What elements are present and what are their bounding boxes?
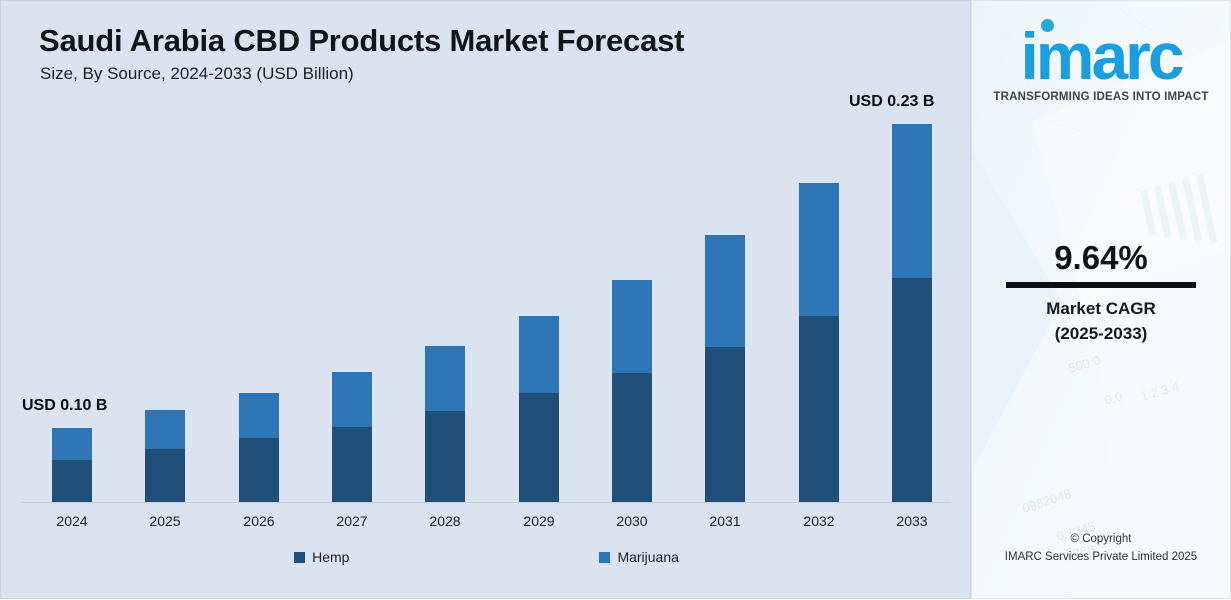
bar-segment-marijuana-2029 bbox=[519, 316, 559, 393]
bar-segment-marijuana-2030 bbox=[612, 280, 652, 373]
x-axis-label-2033: 2033 bbox=[877, 513, 947, 529]
plot-area: 2024202520262027202820292030203120322033… bbox=[1, 1, 972, 600]
x-axis-label-2029: 2029 bbox=[504, 513, 574, 529]
value-label-first: USD 0.10 B bbox=[22, 397, 107, 415]
legend-item-marijuana[interactable]: Marijuana bbox=[599, 549, 678, 565]
bar-segment-hemp-2033 bbox=[892, 278, 932, 502]
cagr-label: Market CAGR (2025-2033) bbox=[972, 297, 1230, 346]
bar-2027[interactable] bbox=[332, 372, 372, 502]
x-axis-label-2026: 2026 bbox=[224, 513, 294, 529]
bar-2025[interactable] bbox=[145, 410, 185, 502]
bar-segment-hemp-2032 bbox=[799, 316, 839, 502]
bar-segment-marijuana-2033 bbox=[892, 124, 932, 278]
bar-segment-hemp-2031 bbox=[705, 347, 745, 502]
legend-item-hemp[interactable]: Hemp bbox=[294, 549, 349, 565]
bar-segment-marijuana-2025 bbox=[145, 410, 185, 449]
cagr-value: 9.64% bbox=[972, 239, 1230, 277]
bar-2030[interactable] bbox=[612, 280, 652, 502]
legend-swatch-marijuana bbox=[599, 552, 610, 563]
x-axis-label-2025: 2025 bbox=[130, 513, 200, 529]
chart-infographic: Saudi Arabia CBD Products Market Forecas… bbox=[0, 0, 1231, 599]
chart-legend: Hemp Marijuana bbox=[1, 549, 972, 565]
legend-label-hemp: Hemp bbox=[312, 549, 349, 565]
bar-segment-marijuana-2024 bbox=[52, 428, 92, 460]
copyright-line2: IMARC Services Private Limited 2025 bbox=[972, 549, 1230, 567]
copyright-line1: © Copyright bbox=[972, 531, 1230, 549]
bar-2033[interactable] bbox=[892, 124, 932, 502]
bar-2028[interactable] bbox=[425, 346, 465, 502]
x-axis-label-2030: 2030 bbox=[597, 513, 667, 529]
x-axis-label-2032: 2032 bbox=[784, 513, 854, 529]
legend-label-marijuana: Marijuana bbox=[617, 549, 678, 565]
legend-swatch-hemp bbox=[294, 552, 305, 563]
value-label-last: USD 0.23 B bbox=[849, 93, 934, 111]
bar-2032[interactable] bbox=[799, 183, 839, 502]
logo-wordmark: imarc bbox=[1020, 23, 1181, 89]
bar-segment-hemp-2030 bbox=[612, 373, 652, 502]
bar-2029[interactable] bbox=[519, 316, 559, 502]
chart-panel: Saudi Arabia CBD Products Market Forecas… bbox=[0, 0, 971, 599]
bar-segment-marijuana-2027 bbox=[332, 372, 372, 427]
x-axis-label-2028: 2028 bbox=[410, 513, 480, 529]
bar-segment-hemp-2028 bbox=[425, 411, 465, 502]
cagr-divider bbox=[1006, 282, 1196, 288]
x-axis-line bbox=[21, 502, 951, 503]
imarc-logo: imarc TRANSFORMING IDEAS INTO IMPACT bbox=[972, 11, 1230, 103]
bar-2026[interactable] bbox=[239, 393, 279, 502]
bar-segment-hemp-2029 bbox=[519, 393, 559, 502]
bar-segment-hemp-2025 bbox=[145, 449, 185, 502]
x-axis-label-2024: 2024 bbox=[37, 513, 107, 529]
bar-segment-marijuana-2028 bbox=[425, 346, 465, 411]
bar-segment-marijuana-2032 bbox=[799, 183, 839, 316]
bar-segment-marijuana-2031 bbox=[705, 235, 745, 347]
x-axis-label-2031: 2031 bbox=[690, 513, 760, 529]
bar-segment-hemp-2024 bbox=[52, 460, 92, 502]
bar-segment-hemp-2027 bbox=[332, 427, 372, 502]
bar-2031[interactable] bbox=[705, 235, 745, 502]
bar-segment-marijuana-2026 bbox=[239, 393, 279, 438]
cagr-label-line2: (2025-2033) bbox=[972, 322, 1230, 347]
bar-segment-hemp-2026 bbox=[239, 438, 279, 502]
x-axis-label-2027: 2027 bbox=[317, 513, 387, 529]
cagr-label-line1: Market CAGR bbox=[972, 297, 1230, 322]
brand-panel: 500.0 0.0 1 2 3 4 0982048 2768 0.1345 im… bbox=[971, 0, 1231, 599]
bar-2024[interactable] bbox=[52, 428, 92, 502]
copyright-notice: © Copyright IMARC Services Private Limit… bbox=[972, 531, 1230, 567]
